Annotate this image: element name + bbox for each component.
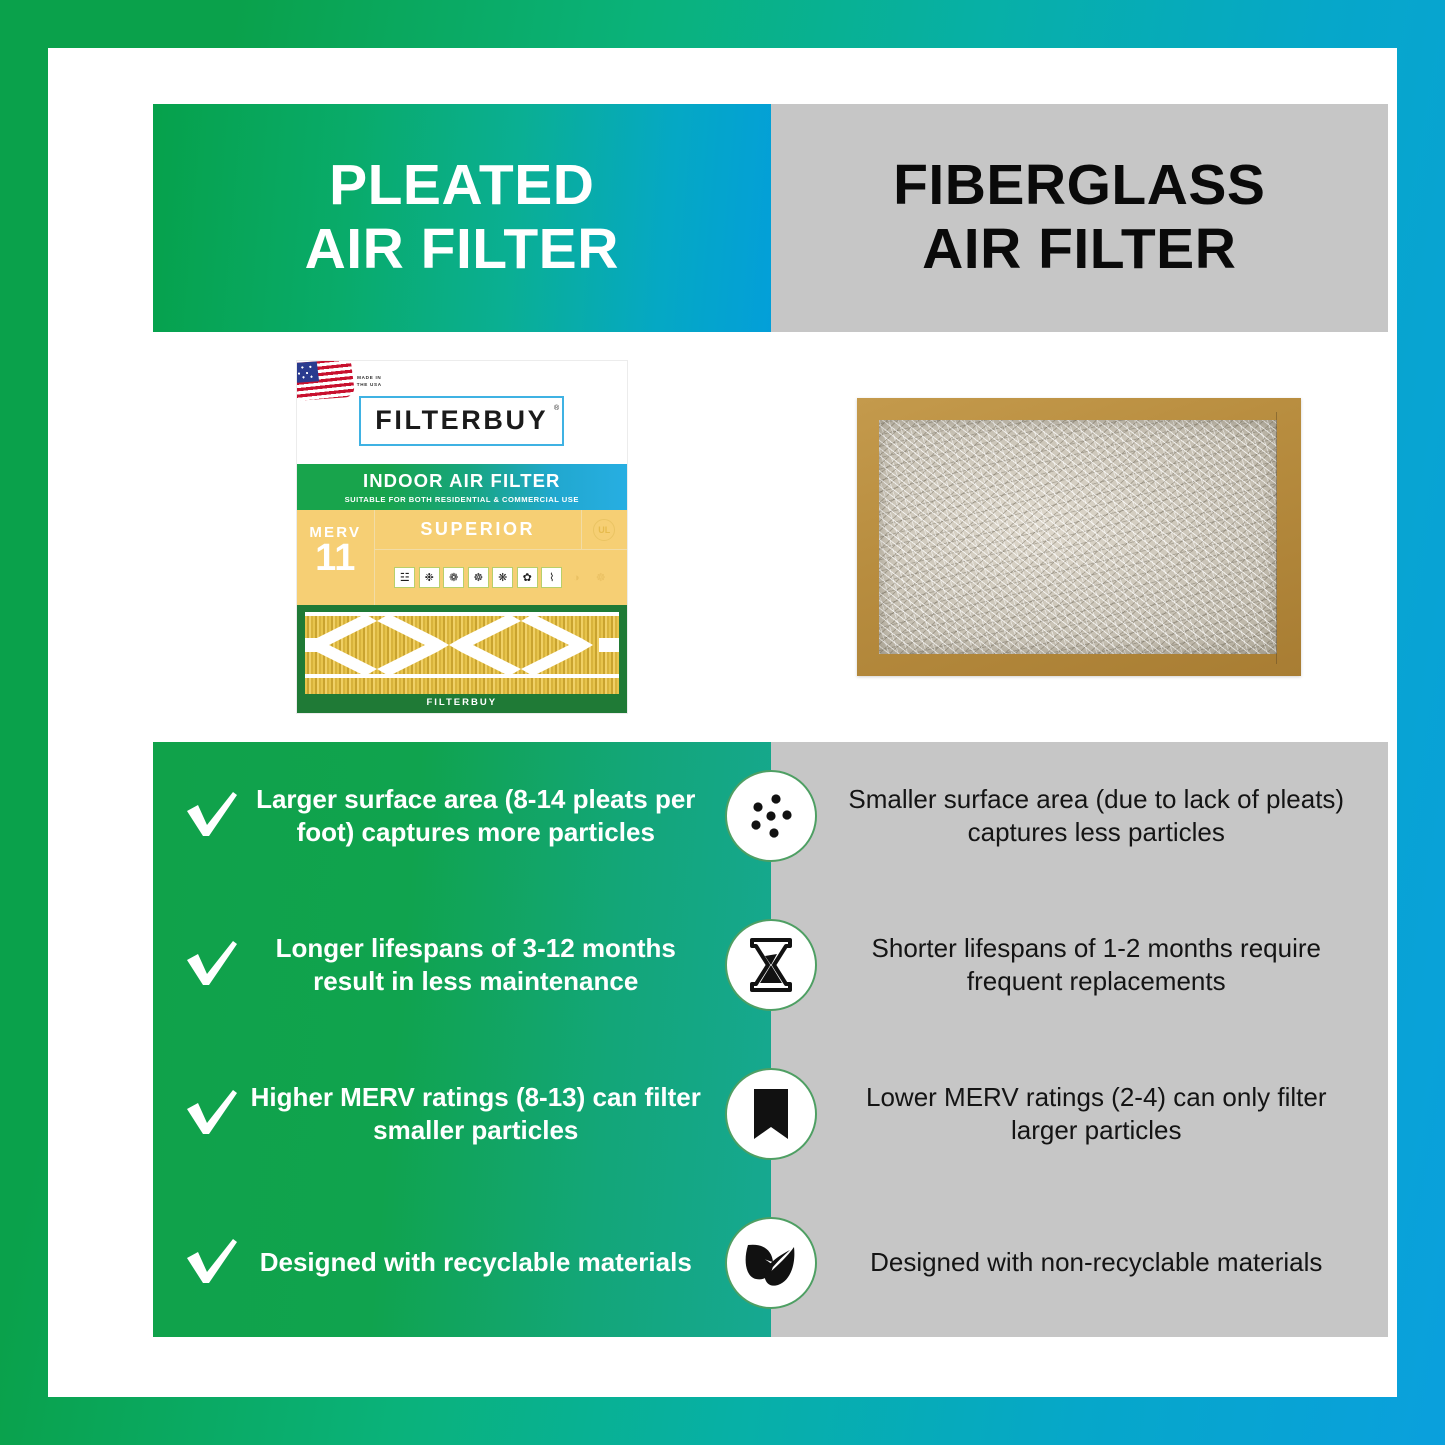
pet-dander-icon: ✿ [517, 567, 538, 588]
merv-block: MERV 11 [297, 510, 375, 605]
box-gradient-band: INDOOR AIR FILTER SUITABLE FOR BOTH RESI… [297, 464, 627, 510]
box-footer-brand: FILTERBUY [305, 694, 619, 708]
header-pleated: PLEATED AIR FILTER [153, 104, 771, 332]
checkmark-icon [181, 1239, 243, 1287]
pollen-icon: ☸ [468, 567, 489, 588]
comparison-row-right: Smaller surface area (due to lack of ple… [771, 783, 1389, 850]
checkmark-icon [181, 941, 243, 989]
cardboard-frame-seam [1276, 412, 1277, 664]
fiberglass-mesh-texture [879, 420, 1277, 654]
hourglass-glyph [743, 936, 799, 994]
header-pleated-line2: AIR FILTER [305, 218, 619, 282]
comparison-row-left: Designed with recyclable materials [153, 1239, 771, 1287]
leaf-glyph [742, 1235, 800, 1291]
filterbuy-box-image: MADE IN THE USA FILTERBUY ® INDOOR AIR F… [297, 361, 627, 713]
comparison-right-text: Designed with non-recyclable materials [833, 1246, 1361, 1279]
check-glyph [185, 1090, 239, 1138]
particles-glyph [742, 787, 800, 845]
bookmark-icon [725, 1068, 817, 1160]
fiberglass-filter-image [857, 398, 1301, 676]
fiberglass-product-cell [771, 398, 1389, 676]
comparison-row-right: Shorter lifespans of 1-2 months require … [771, 932, 1389, 999]
comparison-right-text: Lower MERV ratings (2-4) can only filter… [833, 1081, 1361, 1148]
box-pleats-section: FILTERBUY [297, 605, 627, 713]
comparison-left-text: Higher MERV ratings (8-13) can filter sm… [243, 1081, 709, 1148]
header-fiberglass-line1: FIBERGLASS [893, 154, 1265, 218]
infographic-poster: PLEATED AIR FILTER FIBERGLASS AIR FILTER [0, 0, 1445, 1445]
registered-trademark-icon: ® [554, 405, 559, 412]
ul-listed-icon: UL [593, 519, 615, 541]
mold-spore-icon: ❁ [443, 567, 464, 588]
smoke-icon: ⌇ [541, 567, 562, 588]
made-in-line1: MADE IN [357, 375, 382, 382]
header-fiberglass-title: FIBERGLASS AIR FILTER [893, 154, 1265, 282]
smog-icon: ☸ [590, 567, 611, 588]
comparison-row: Designed with recyclable materials Desig… [153, 1188, 1388, 1337]
checkmark-icon [181, 792, 243, 840]
bacteria-icon: ❋ [492, 567, 513, 588]
comparison-row-left: Larger surface area (8-14 pleats per foo… [153, 783, 771, 850]
box-band-title: INDOOR AIR FILTER [297, 470, 627, 492]
comparison-row-left: Higher MERV ratings (8-13) can filter sm… [153, 1081, 771, 1148]
header-pleated-line1: PLEATED [305, 154, 619, 218]
grade-row: SUPERIOR UL [375, 510, 627, 550]
comparison-rows: Larger surface area (8-14 pleats per foo… [153, 742, 1388, 1337]
header-band: PLEATED AIR FILTER FIBERGLASS AIR FILTER [153, 104, 1388, 332]
check-glyph [185, 792, 239, 840]
comparison-section: Larger surface area (8-14 pleats per foo… [153, 742, 1388, 1337]
comparison-row: Higher MERV ratings (8-13) can filter sm… [153, 1040, 1388, 1189]
box-top-section: MADE IN THE USA FILTERBUY ® [297, 361, 627, 464]
usa-flag-icon [297, 361, 355, 401]
comparison-left-text: Longer lifespans of 3-12 months result i… [243, 932, 709, 999]
pleated-media-graphic [305, 612, 619, 694]
grade-label: SUPERIOR [375, 519, 581, 540]
comparison-right-text: Shorter lifespans of 1-2 months require … [833, 932, 1361, 999]
bookmark-glyph [746, 1085, 796, 1143]
hourglass-icon [725, 919, 817, 1011]
header-pleated-title: PLEATED AIR FILTER [305, 154, 619, 282]
box-gold-right: SUPERIOR UL ☳ ❉ ❁ ☸ ❋ [375, 510, 627, 605]
made-in-usa-label: MADE IN THE USA [357, 375, 382, 389]
ul-mark-wrap: UL [581, 510, 627, 549]
comparison-left-text: Designed with recyclable materials [243, 1246, 709, 1279]
virus-icon: ◑ [566, 567, 587, 588]
checkmark-icon [181, 1090, 243, 1138]
box-band-subtitle: SUITABLE FOR BOTH RESIDENTIAL & COMMERCI… [297, 495, 627, 504]
brand-name: FILTERBUY [375, 405, 548, 435]
header-fiberglass: FIBERGLASS AIR FILTER [771, 104, 1389, 332]
header-fiberglass-line2: AIR FILTER [893, 218, 1265, 282]
leaf-icon [725, 1217, 817, 1309]
box-gold-section: MERV 11 SUPERIOR UL ☳ [297, 510, 627, 605]
check-glyph [185, 941, 239, 989]
comparison-left-text: Larger surface area (8-14 pleats per foo… [243, 783, 709, 850]
comparison-row-left: Longer lifespans of 3-12 months result i… [153, 932, 771, 999]
particles-icon [725, 770, 817, 862]
comparison-row-right: Designed with non-recyclable materials [771, 1246, 1389, 1279]
product-image-row: MADE IN THE USA FILTERBUY ® INDOOR AIR F… [153, 332, 1388, 742]
made-in-line2: THE USA [357, 382, 382, 389]
dust-icon: ☳ [394, 567, 415, 588]
captured-particle-icon-strip: ☳ ❉ ❁ ☸ ❋ ✿ ⌇ ◑ ☸ [375, 550, 627, 605]
comparison-row: Longer lifespans of 3-12 months result i… [153, 891, 1388, 1040]
poster-inner-white-card: PLEATED AIR FILTER FIBERGLASS AIR FILTER [48, 48, 1397, 1397]
dust-mite-icon: ❉ [419, 567, 440, 588]
check-glyph [185, 1239, 239, 1287]
comparison-row-right: Lower MERV ratings (2-4) can only filter… [771, 1081, 1389, 1148]
comparison-row: Larger surface area (8-14 pleats per foo… [153, 742, 1388, 891]
support-lattice-icon [305, 612, 619, 694]
pleated-product-cell: MADE IN THE USA FILTERBUY ® INDOOR AIR F… [153, 361, 771, 713]
comparison-right-text: Smaller surface area (due to lack of ple… [833, 783, 1361, 850]
merv-value: 11 [297, 539, 374, 577]
brand-plate: FILTERBUY ® [359, 396, 564, 446]
